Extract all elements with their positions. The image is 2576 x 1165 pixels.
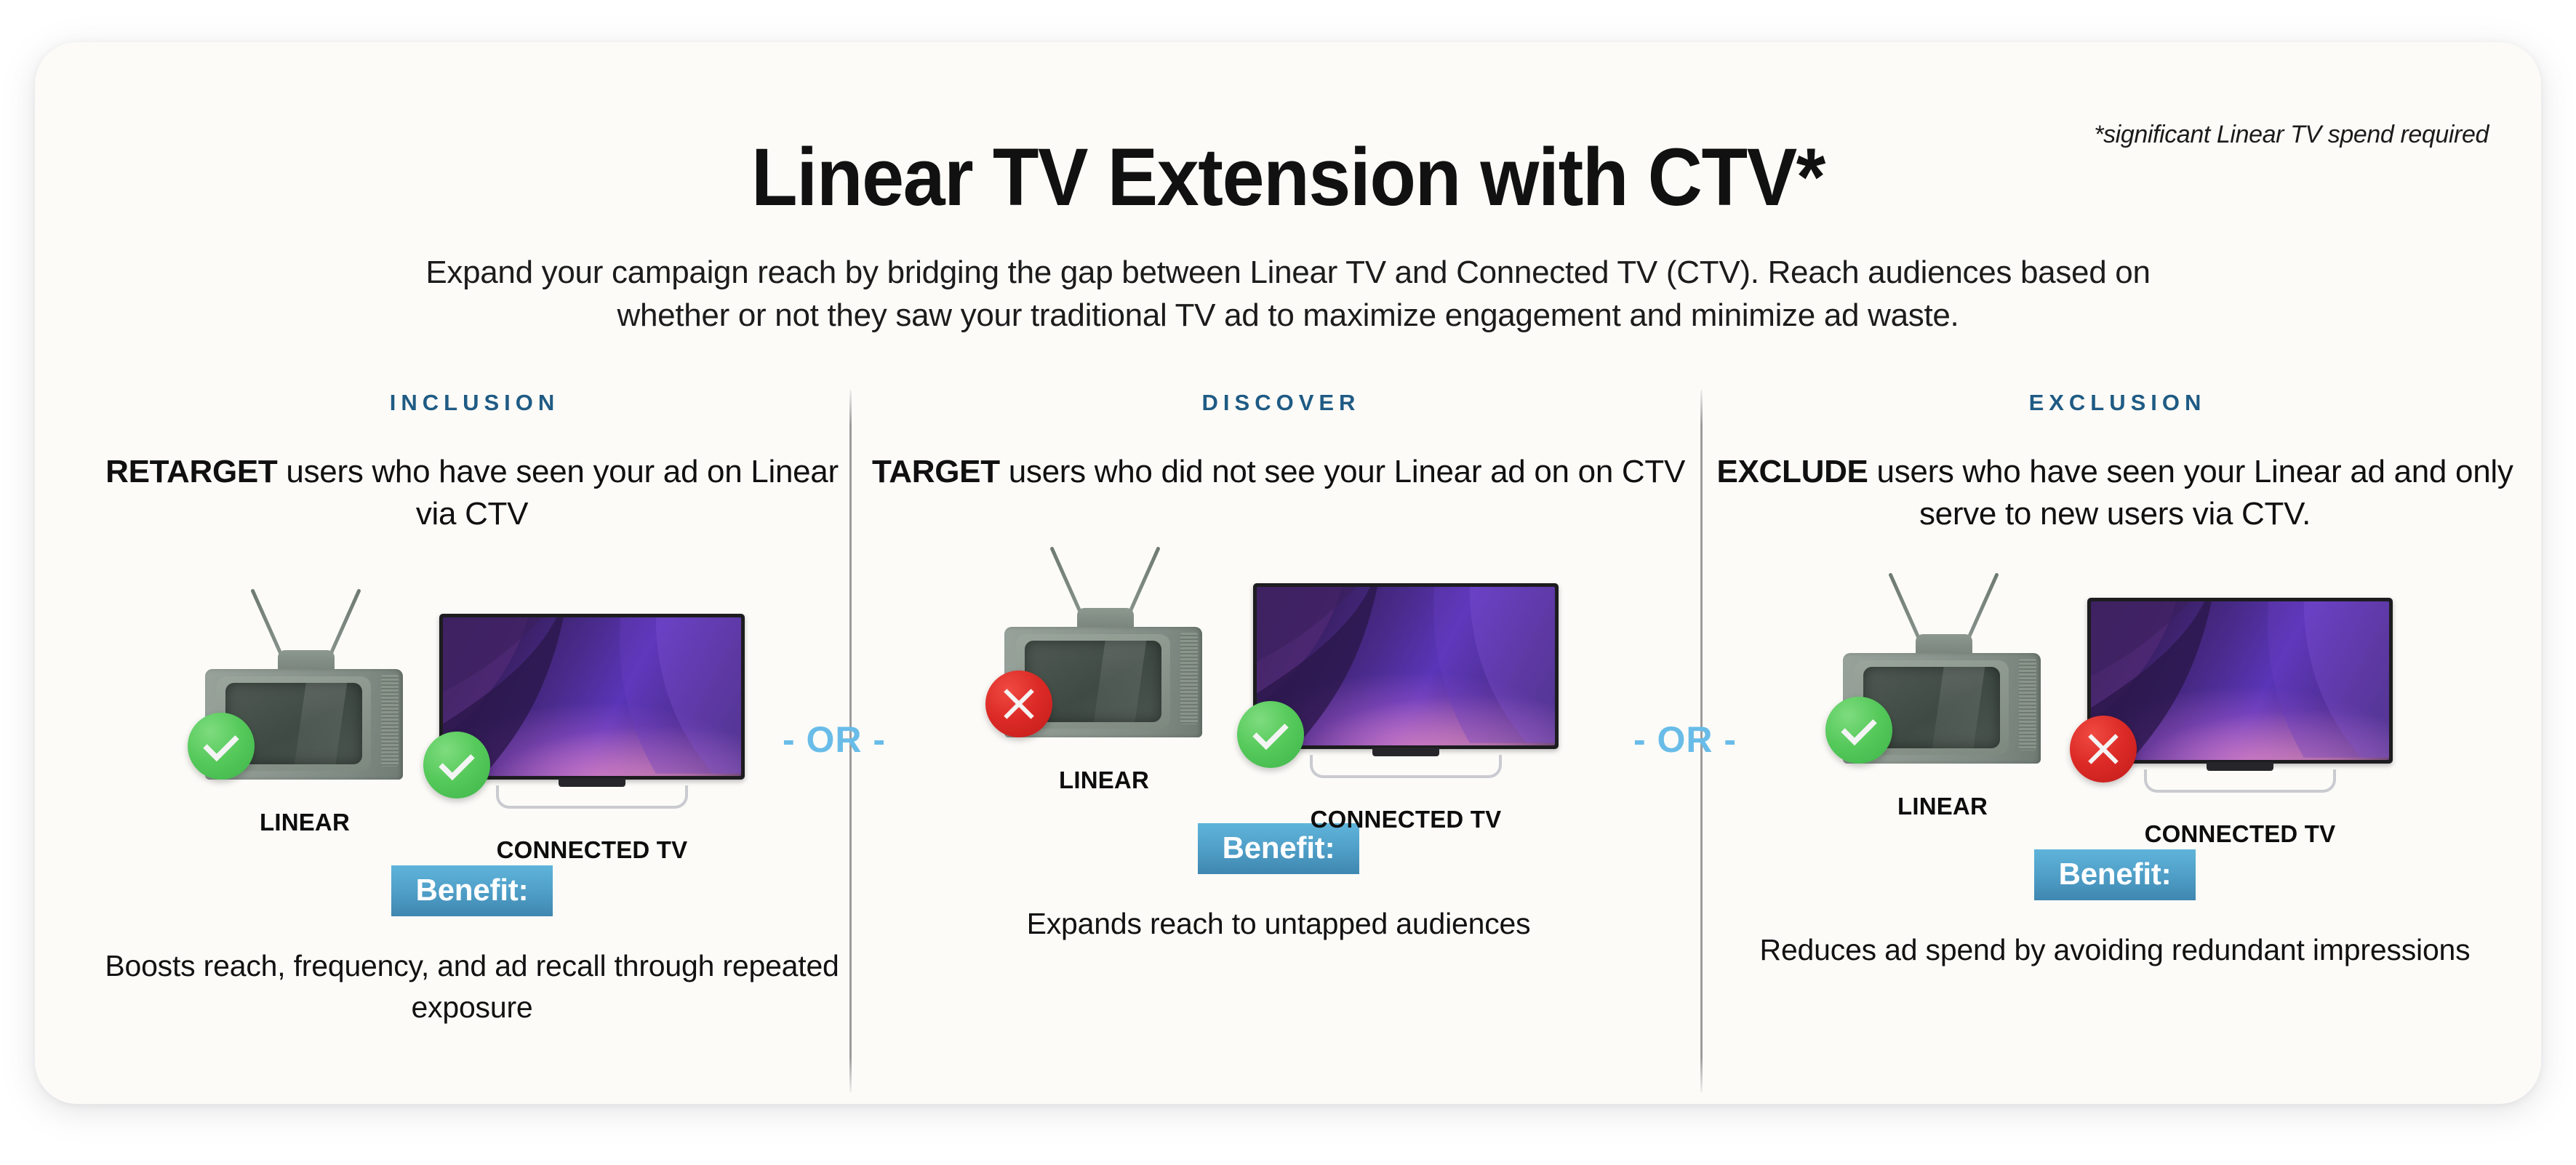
- connected-tv-icon: [2087, 598, 2393, 793]
- linear-tv-label-exclusion: LINEAR: [1837, 793, 2048, 820]
- linear-tv-slot-exclusion: LINEAR: [1837, 567, 2048, 820]
- headline-rest-inclusion: users who have seen your ad on Linear vi…: [278, 454, 839, 532]
- connected-tv-icon: [1253, 583, 1559, 778]
- check-circle-icon: [188, 713, 255, 780]
- column-headline-exclusion: EXCLUDE users who have seen your Linear …: [1708, 451, 2522, 535]
- check-circle-icon: [1825, 697, 1892, 764]
- headline-strong-discover: TARGET: [872, 454, 1000, 489]
- headline-rest-exclusion: users who have seen your Linear ad and o…: [1868, 454, 2513, 532]
- benefit-block-discover: Benefit: Expands reach to untapped audie…: [864, 823, 1693, 945]
- x-circle-icon: [2070, 716, 2137, 782]
- retro-tv-speaker-grill: [381, 675, 399, 766]
- tv-row-discover: LINEAR: [864, 541, 1693, 788]
- check-circle-icon: [423, 732, 490, 798]
- retro-tv-icon: [999, 541, 1209, 737]
- column-kicker-inclusion: INCLUSION: [110, 390, 839, 416]
- linear-tv-slot-inclusion: LINEAR: [199, 583, 410, 836]
- headline-strong-exclusion: EXCLUDE: [1716, 454, 1868, 489]
- benefit-text-discover: Expands reach to untapped audiences: [864, 903, 1693, 945]
- linear-tv-label-discover: LINEAR: [999, 766, 1209, 794]
- retro-tv-icon: [1837, 567, 2048, 764]
- infographic-stage: *significant Linear TV spend required Li…: [0, 0, 2576, 1165]
- column-kicker-discover: DISCOVER: [869, 390, 1693, 416]
- connected-tv-slot-exclusion: CONNECTED TV: [2087, 567, 2393, 848]
- connected-tv-stand-foot: [496, 785, 688, 809]
- retro-tv-icon: [199, 583, 410, 780]
- column-exclusion: EXCLUSION EXCLUDE users who have seen yo…: [1708, 390, 2522, 971]
- tv-row-exclusion: LINEAR: [1708, 567, 2522, 814]
- benefit-badge-exclusion: Benefit:: [2034, 849, 2196, 900]
- headline-strong-inclusion: RETARGET: [105, 454, 277, 489]
- connected-tv-label-exclusion: CONNECTED TV: [2087, 820, 2393, 848]
- connected-tv-stand-foot: [1310, 755, 1502, 778]
- retro-tv-speaker-grill: [2019, 659, 2036, 750]
- benefit-badge-inclusion: Benefit:: [391, 865, 553, 916]
- infographic-card: *significant Linear TV spend required Li…: [35, 42, 2541, 1104]
- check-circle-icon: [1237, 701, 1304, 768]
- connected-tv-slot-discover: CONNECTED TV: [1253, 541, 1559, 833]
- benefit-block-inclusion: Benefit: Boosts reach, frequency, and ad…: [105, 865, 839, 1028]
- column-kicker-exclusion: EXCLUSION: [1713, 390, 2522, 416]
- column-headline-discover: TARGET users who did not see your Linear…: [864, 451, 1693, 493]
- column-inclusion: INCLUSION RETARGET users who have seen y…: [105, 390, 839, 1028]
- connected-tv-icon: [439, 614, 745, 809]
- column-discover: DISCOVER TARGET users who did not see yo…: [864, 390, 1693, 945]
- headline-rest-discover: users who did not see your Linear ad on …: [1000, 454, 1685, 489]
- connected-tv-stand-foot: [2144, 769, 2336, 793]
- tv-row-inclusion: LINEAR: [105, 583, 839, 830]
- connected-tv-label-discover: CONNECTED TV: [1253, 806, 1559, 833]
- connected-tv-slot-inclusion: CONNECTED TV: [439, 583, 745, 864]
- linear-tv-label-inclusion: LINEAR: [199, 809, 410, 836]
- connected-tv-screen: [2091, 601, 2389, 760]
- page-subtitle: Expand your campaign reach by bridging t…: [372, 252, 2204, 337]
- benefit-text-inclusion: Boosts reach, frequency, and ad recall t…: [105, 945, 839, 1028]
- column-headline-inclusion: RETARGET users who have seen your ad on …: [105, 451, 839, 535]
- x-circle-icon: [985, 670, 1052, 737]
- page-title: Linear TV Extension with CTV*: [123, 137, 2454, 218]
- retro-tv-speaker-grill: [1180, 633, 1198, 724]
- benefit-text-exclusion: Reduces ad spend by avoiding redundant i…: [1708, 929, 2522, 971]
- connected-tv-label-inclusion: CONNECTED TV: [439, 836, 745, 864]
- linear-tv-slot-discover: LINEAR: [999, 541, 1209, 794]
- benefit-block-exclusion: Benefit: Reduces ad spend by avoiding re…: [1708, 849, 2522, 971]
